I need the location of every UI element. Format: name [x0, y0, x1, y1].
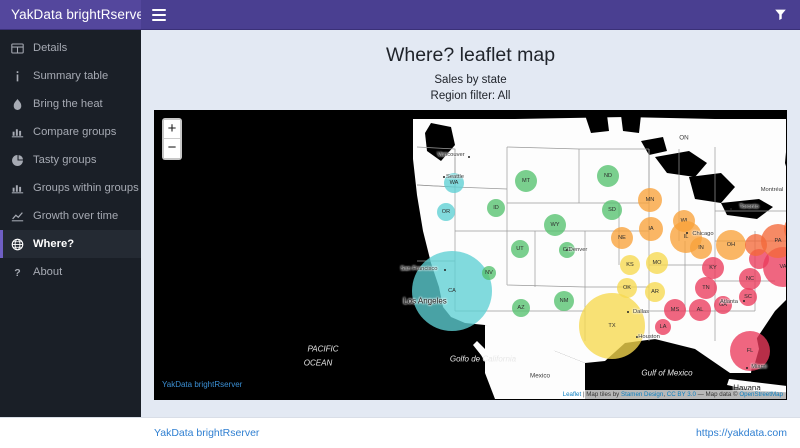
sidebar-item-details[interactable]: Details: [0, 34, 141, 62]
attrib-sep-1: | Map tiles by: [581, 391, 621, 398]
map-geo-label: Chicago: [692, 231, 713, 237]
map-attribution: Leaflet | Map tiles by Stamen Design, CC…: [560, 390, 786, 399]
map-geo-label: Atlanta: [720, 299, 738, 305]
info-icon: [11, 70, 24, 83]
geo-label-layer: VancouverSeattleMontréalTorontoChicagoDe…: [155, 111, 786, 399]
line-chart-icon: [11, 210, 24, 223]
page-footer: YakData brightRserver https://yakdata.co…: [0, 417, 800, 448]
map-zoom-controls[interactable]: + −: [162, 118, 182, 160]
sidebar-item-summary-table[interactable]: Summary table: [0, 62, 141, 90]
map-city-dot: [746, 367, 748, 369]
sidebar-item-label: Where?: [33, 238, 74, 250]
globe-icon: [11, 238, 24, 251]
pie-chart-icon: [11, 154, 24, 167]
question-icon: ?: [11, 266, 24, 279]
main-content: Where? leaflet map Sales by state Region…: [141, 30, 800, 417]
map-geo-label: Montréal: [761, 187, 784, 193]
top-navbar: YakData brightRserver: [0, 0, 800, 30]
sidebar-item-label: Compare groups: [33, 126, 116, 138]
leaflet-link[interactable]: Leaflet: [563, 391, 582, 398]
sidebar-item-compare-groups[interactable]: Compare groups: [0, 118, 141, 146]
map-geo-label: Gulf of Mexico: [641, 369, 692, 378]
navbar-right: [141, 0, 800, 29]
map-city-dot: [786, 190, 787, 192]
hamburger-icon[interactable]: [152, 9, 166, 21]
title-block: Where? leaflet map Sales by state Region…: [154, 30, 787, 102]
footer-brand-link[interactable]: YakData brightRserver: [154, 427, 259, 439]
map-geo-label: Dallas: [633, 309, 649, 315]
map-geo-label: PACIFIC: [308, 345, 339, 354]
sidebar-item-label: Summary table: [33, 70, 108, 82]
map-geo-label: ON: [679, 135, 688, 142]
sidebar-item-groups-within-groups[interactable]: Groups within groups: [0, 174, 141, 202]
map-city-dot: [743, 300, 745, 302]
sidebar-item-bring-the-heat[interactable]: Bring the heat: [0, 90, 141, 118]
app-brand: YakData brightRserver: [0, 0, 141, 29]
map-geo-label: San Francisco: [400, 266, 437, 272]
leaflet-map[interactable]: WAORCAIDMTNDSDWYUTCONVAZNMMNWIIANEILINOH…: [154, 110, 787, 400]
app-root: YakData brightRserver Details Summary ta…: [0, 0, 800, 448]
sidebar-item-label: About: [33, 266, 62, 278]
map-city-dot: [443, 176, 445, 178]
map-geo-label: Toronto: [739, 204, 758, 210]
sidebar-item-tasty-groups[interactable]: Tasty groups: [0, 146, 141, 174]
page-title: Where? leaflet map: [154, 43, 787, 67]
map-geo-label: Los Angeles: [403, 297, 447, 306]
funnel-icon[interactable]: [774, 8, 787, 21]
map-geo-label: Miami: [751, 364, 766, 370]
map-city-dot: [444, 269, 446, 271]
sidebar-item-label: Groups within groups: [33, 182, 139, 194]
zoom-out-button[interactable]: −: [164, 139, 180, 158]
sidebar-item-where[interactable]: Where?: [0, 230, 141, 258]
sidebar-item-label: Details: [33, 42, 67, 54]
map-geo-label: Golfo de California: [450, 355, 516, 364]
map-city-dot: [566, 249, 568, 251]
flame-icon: [11, 98, 24, 111]
license-link[interactable]: CC BY 3.0: [667, 391, 696, 398]
map-bubble[interactable]: [786, 244, 787, 268]
page-subtitle: Sales by state: [154, 74, 787, 86]
sidebar: Details Summary table Bring the heat Com…: [0, 30, 141, 417]
map-city-dot: [627, 311, 629, 313]
sidebar-item-label: Growth over time: [33, 210, 118, 222]
attrib-sep-3: — Map data ©: [696, 391, 739, 398]
map-city-dot: [468, 156, 470, 158]
body-row: Details Summary table Bring the heat Com…: [0, 30, 800, 417]
map-geo-label: Vancouver: [437, 152, 464, 158]
stamen-link[interactable]: Stamen Design: [621, 391, 663, 398]
map-geo-label: Houston: [638, 334, 660, 340]
sidebar-item-growth-over-time[interactable]: Growth over time: [0, 202, 141, 230]
map-geo-label: Denver: [569, 247, 588, 253]
bar-chart-icon: [11, 182, 24, 195]
footer-site-link[interactable]: https://yakdata.com: [696, 427, 787, 439]
svg-text:?: ?: [14, 267, 20, 279]
sidebar-item-label: Bring the heat: [33, 98, 103, 110]
table-icon: [11, 42, 24, 55]
sidebar-item-label: Tasty groups: [33, 154, 96, 166]
map-watermark: YakData brightRserver: [162, 380, 242, 389]
map-geo-label: OCEAN: [304, 359, 332, 368]
map-geo-label: Seattle: [446, 174, 464, 180]
map-city-dot: [636, 336, 638, 338]
sidebar-item-about[interactable]: ? About: [0, 258, 141, 286]
region-filter-text: Region filter: All: [154, 90, 787, 102]
map-city-dot: [730, 208, 732, 210]
map-city-dot: [686, 232, 688, 234]
map-geo-label: Mexico: [530, 373, 550, 380]
bar-chart-icon: [11, 126, 24, 139]
zoom-in-button[interactable]: +: [164, 120, 180, 139]
openstreetmap-link[interactable]: OpenStreetMap: [739, 391, 783, 398]
